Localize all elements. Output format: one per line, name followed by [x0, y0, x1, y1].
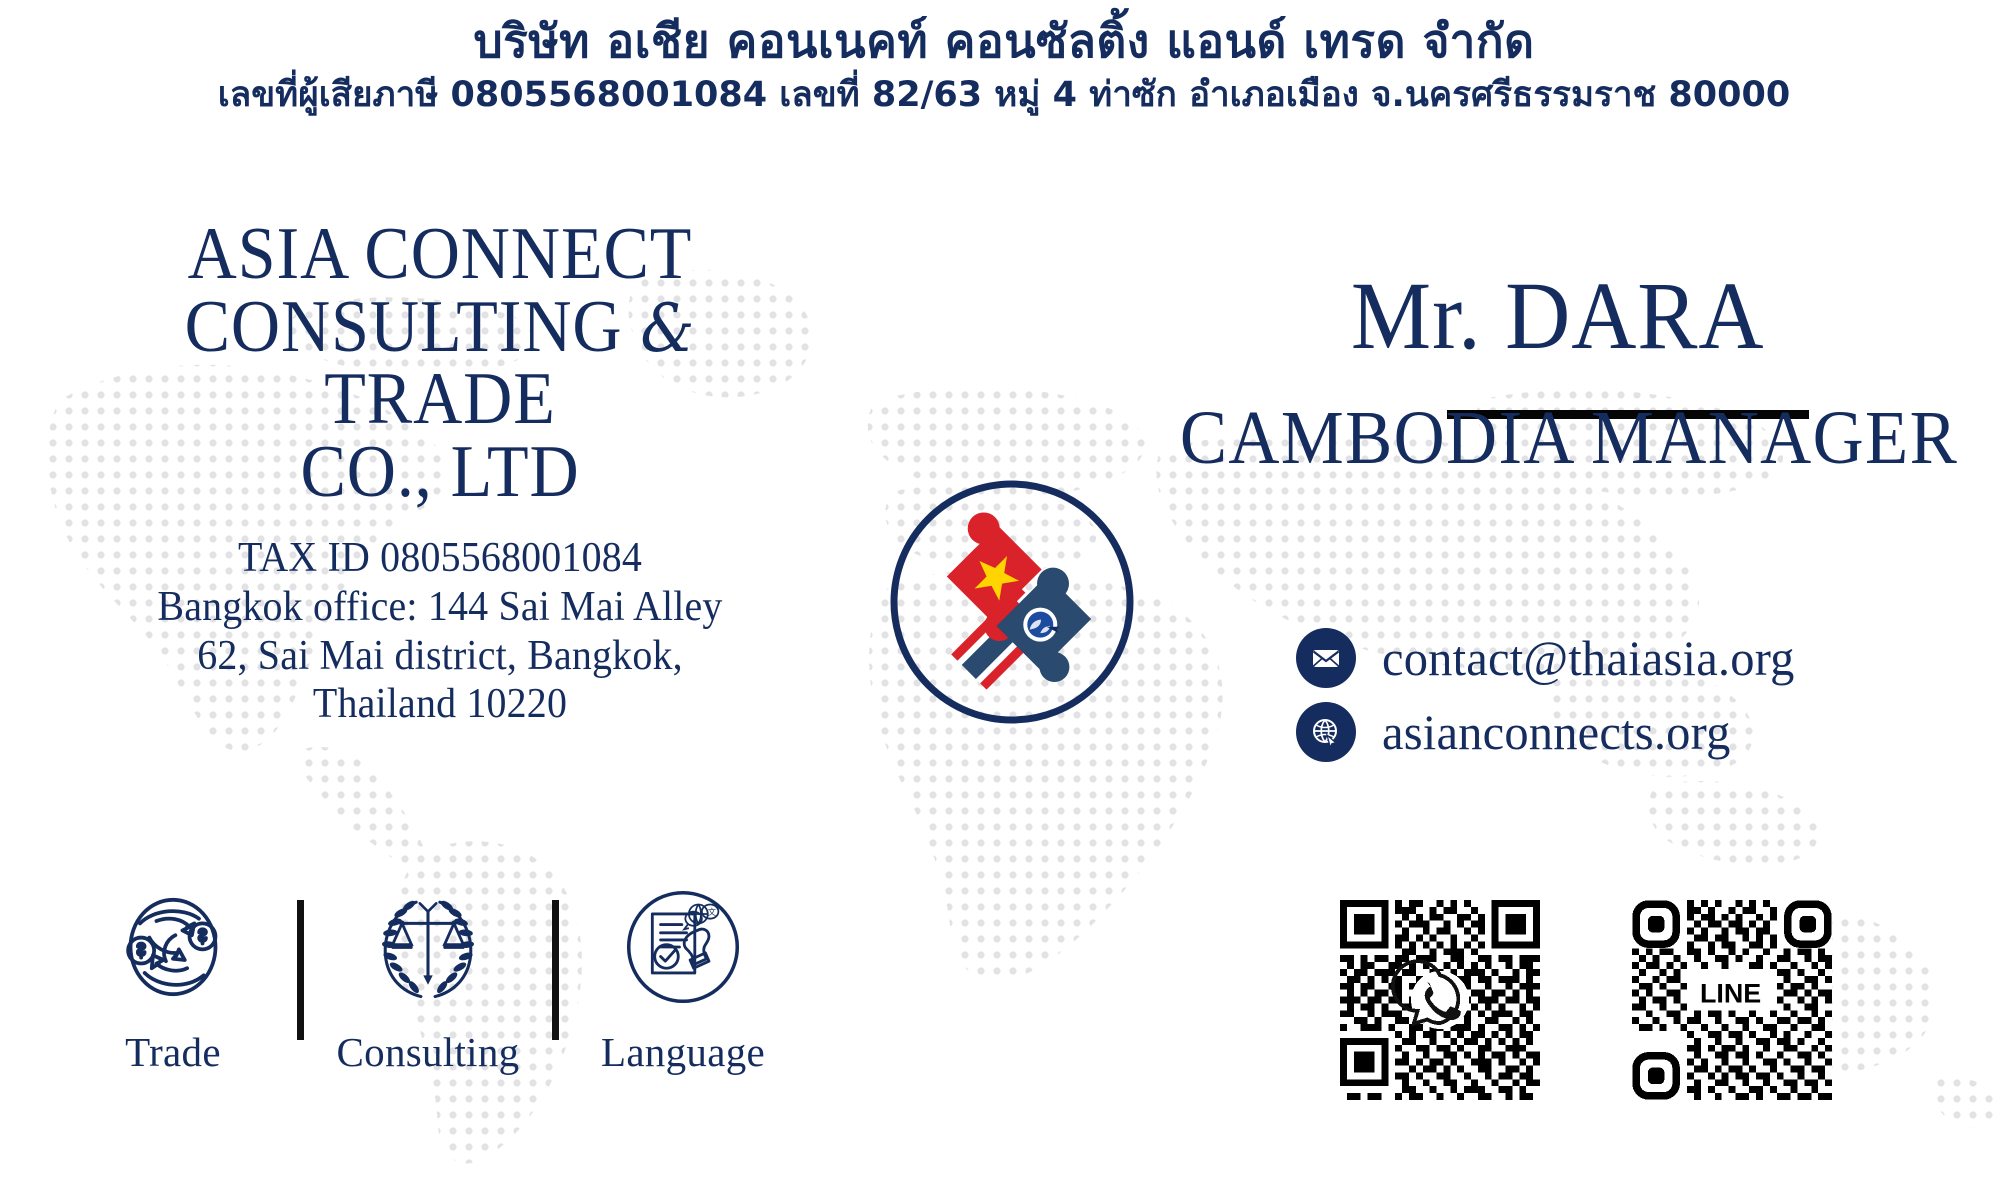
- services-row: Trade: [78, 888, 778, 1076]
- envelope-icon: [1296, 628, 1356, 688]
- svg-text:文: 文: [708, 907, 716, 917]
- person-block: Mr. DARA CAMBODIA MANAGER: [1130, 268, 2008, 476]
- puzzle-flags-globe-logo: [888, 478, 1136, 726]
- address-line-1: Bangkok office: 144 Sai Mai Alley: [79, 583, 801, 632]
- service-divider-1: [297, 900, 304, 1040]
- company-block: ASIA CONNECT CONSULTING & TRADE CO., LTD…: [60, 218, 820, 729]
- globe-exchange-dollar-icon: [114, 888, 232, 1006]
- person-name: Mr. DARA: [1156, 268, 1981, 364]
- svg-text:A: A: [692, 915, 698, 924]
- address-line-3: Thailand 10220: [79, 680, 801, 729]
- thai-tax-and-address: เลขที่ผู้เสียภาษี 0805568001084 เลขที่ 8…: [0, 74, 2008, 118]
- business-card: บริษัท อเชีย คอนเนคท์ คอนซัลติ้ง แอนด์ เ…: [0, 0, 2008, 1181]
- company-name-line-2-pre: CONSULTING: [185, 286, 641, 368]
- thai-company-name: บริษัท อเชีย คอนเนคท์ คอนซัลติ้ง แอนด์ เ…: [0, 16, 2008, 68]
- email-value[interactable]: contact@thaiasia.org: [1382, 629, 1795, 687]
- service-label-consulting: Consulting: [337, 1028, 520, 1076]
- thai-header: บริษัท อเชีย คอนเนคท์ คอนซัลติ้ง แอนด์ เ…: [0, 16, 2008, 117]
- company-name-line-2-post: TRADE: [324, 358, 556, 440]
- line-qr[interactable]: LINE: [1632, 900, 1832, 1100]
- company-name-line-1: ASIA CONNECT: [90, 218, 789, 291]
- qr-code-area: LINE: [1340, 900, 1832, 1100]
- service-trade[interactable]: Trade: [78, 888, 268, 1076]
- service-language[interactable]: A 文 Language: [588, 888, 778, 1076]
- company-name: ASIA CONNECT CONSULTING & TRADE CO., LTD: [90, 218, 789, 508]
- website-value[interactable]: asianconnects.org: [1382, 703, 1731, 761]
- scales-of-justice-laurel-icon: [369, 888, 487, 1006]
- company-address-block: TAX ID 0805568001084 Bangkok office: 144…: [79, 534, 801, 729]
- contact-row-website[interactable]: asianconnects.org: [1296, 702, 1996, 762]
- company-name-line-2: CONSULTING & TRADE: [90, 291, 789, 436]
- tax-id-line: TAX ID 0805568001084: [79, 534, 801, 583]
- company-name-line-3: CO., LTD: [90, 436, 789, 509]
- service-label-language: Language: [601, 1028, 765, 1076]
- line-wordmark: LINE: [1700, 979, 1761, 1009]
- service-consulting[interactable]: Consulting: [333, 888, 523, 1076]
- whatsapp-qr[interactable]: [1340, 900, 1540, 1100]
- ampersand: &: [640, 290, 695, 367]
- globe-cursor-icon: [1296, 702, 1356, 762]
- contact-row-email[interactable]: contact@thaiasia.org: [1296, 628, 1996, 688]
- address-line-2: 62, Sai Mai district, Bangkok,: [79, 632, 801, 681]
- certified-document-stamp-icon: A 文: [624, 888, 742, 1006]
- contact-list: contact@thaiasia.org asianconnects.org: [1296, 628, 1996, 776]
- service-label-trade: Trade: [125, 1028, 221, 1076]
- person-title: CAMBODIA MANAGER: [1161, 400, 1978, 476]
- service-divider-2: [552, 900, 559, 1040]
